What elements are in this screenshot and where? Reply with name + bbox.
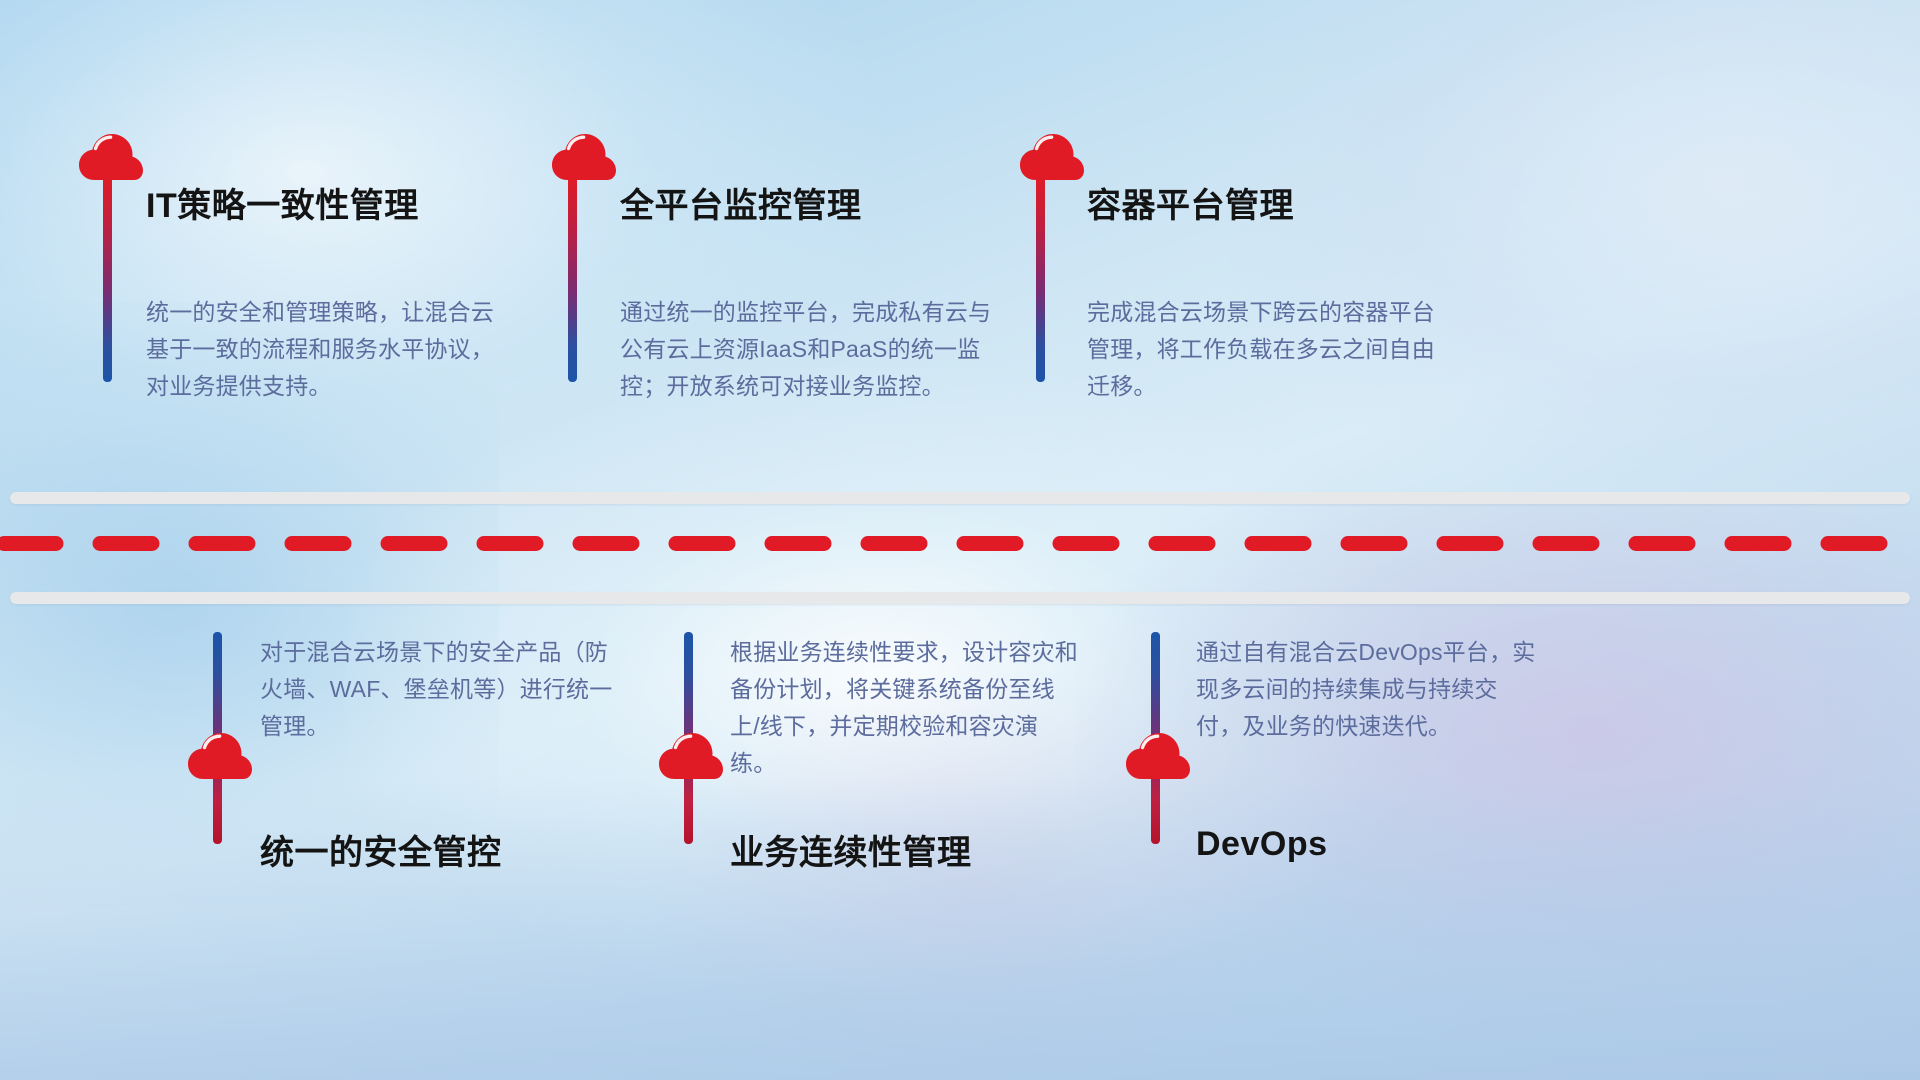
feature-title: 全平台监控管理: [620, 178, 862, 227]
divider-rule-bottom: [10, 592, 1910, 604]
cloud-icon: [78, 130, 144, 182]
feature-title: 容器平台管理: [1087, 178, 1294, 227]
connector-stem: [568, 176, 577, 382]
connector-stem: [103, 176, 112, 382]
cloud-icon: [187, 729, 253, 781]
feature-description: 统一的安全和管理策略，让混合云基于一致的流程和服务水平协议，对业务提供支持。: [146, 294, 498, 405]
feature-title: IT策略一致性管理: [146, 178, 419, 227]
background-bottom-shade: [0, 778, 1920, 1080]
cloud-icon: [551, 130, 617, 182]
feature-title: DevOps: [1196, 825, 1328, 864]
cloud-icon: [658, 729, 724, 781]
center-divider: [0, 488, 1920, 608]
cloud-icon: [1019, 130, 1085, 182]
connector-stem: [1036, 176, 1045, 382]
feature-description: 根据业务连续性要求，设计容灾和备份计划，将关键系统备份至线上/线下，并定期校验和…: [730, 634, 1080, 782]
dashed-track-line: [0, 535, 1920, 552]
feature-title: 业务连续性管理: [730, 825, 972, 874]
feature-description: 完成混合云场景下跨云的容器平台管理，将工作负载在多云之间自由迁移。: [1087, 294, 1457, 405]
feature-description: 对于混合云场景下的安全产品（防火墙、WAF、堡垒机等）进行统一管理。: [260, 634, 620, 745]
feature-description: 通过统一的监控平台，完成私有云与公有云上资源IaaS和PaaS的统一监控；开放系…: [620, 294, 1000, 405]
feature-description: 通过自有混合云DevOps平台，实现多云间的持续集成与持续交付，及业务的快速迭代…: [1196, 634, 1541, 745]
cloud-icon: [1125, 729, 1191, 781]
divider-rule-top: [10, 492, 1910, 504]
feature-title: 统一的安全管控: [260, 825, 502, 874]
